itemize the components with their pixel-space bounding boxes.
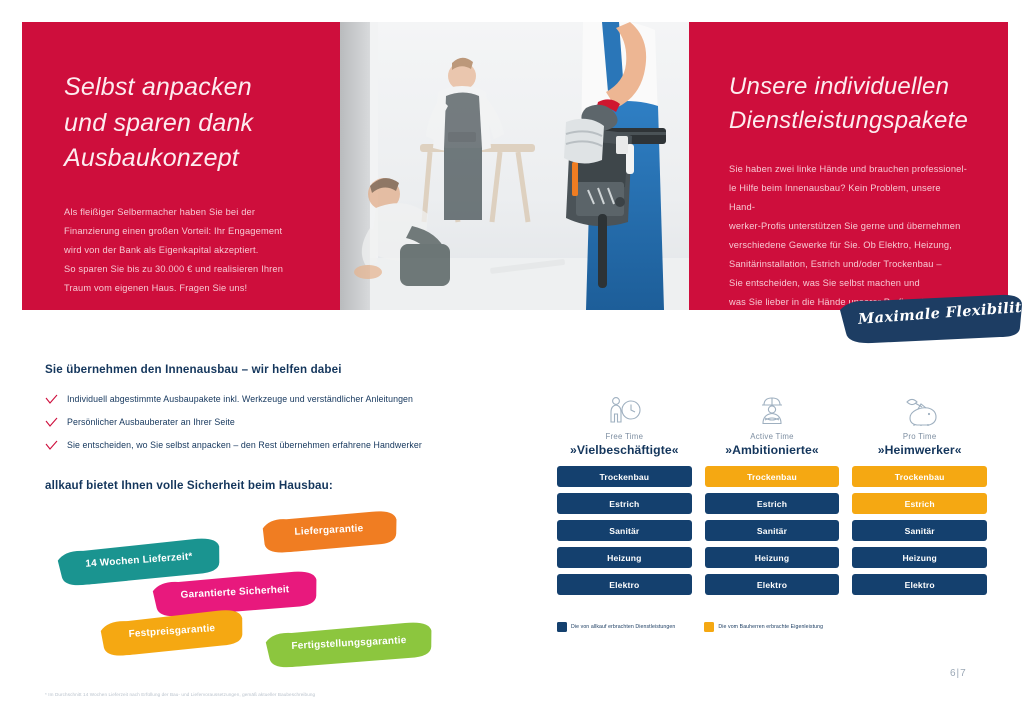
list-item: Sie entscheiden, wo Sie selbst anpacken … — [45, 439, 525, 462]
hero-left-title: Selbst anpacken und sparen dank Ausbauko… — [64, 70, 300, 177]
package-title: »Heimwerker« — [852, 443, 987, 457]
legend-item-dienstleistungen: Die von allkauf erbrachten Dienstleistun… — [557, 622, 675, 632]
hero-right-body: Sie haben zwei linke Hände und brauchen … — [729, 160, 968, 312]
package-row-estrich[interactable]: Estrich — [557, 493, 692, 514]
footnote: * Im Durchschnitt 14 Wochen Lieferzeit n… — [45, 692, 315, 697]
package-row-heizung[interactable]: Heizung — [557, 547, 692, 568]
hero-panel-left: Selbst anpacken und sparen dank Ausbauko… — [22, 22, 340, 310]
package-columns: Free Time »Vielbeschäftigte« Trockenbau … — [557, 392, 987, 595]
package-row-heizung[interactable]: Heizung — [852, 547, 987, 568]
package-rows: Trockenbau Estrich Sanitär Heizung Elekt… — [705, 466, 840, 595]
badge-label: Liefergarantie — [259, 508, 399, 553]
package-row-trockenbau[interactable]: Trockenbau — [557, 466, 692, 487]
package-row-sanitaer[interactable]: Sanitär — [557, 520, 692, 541]
legend-swatch-orange — [704, 622, 714, 632]
package-subtitle: Pro Time — [852, 432, 987, 441]
check-icon — [45, 393, 67, 405]
craftsmen-photo-illustration — [340, 22, 689, 310]
badge-label: Fertigstellungsgarantie — [262, 620, 436, 669]
package-row-elektro[interactable]: Elektro — [705, 574, 840, 595]
service-packages: Free Time »Vielbeschäftigte« Trockenbau … — [557, 392, 987, 595]
package-row-elektro[interactable]: Elektro — [852, 574, 987, 595]
hero-band: Selbst anpacken und sparen dank Ausbauko… — [22, 22, 1002, 310]
package-row-sanitaer[interactable]: Sanitär — [852, 520, 987, 541]
package-row-estrich[interactable]: Estrich — [705, 493, 840, 514]
page-number: 6|7 — [950, 668, 967, 679]
check-icon — [45, 439, 67, 451]
hero-photo — [340, 22, 689, 310]
guarantee-badges: 14 Wochen Lieferzeit* Liefergarantie Gar… — [45, 505, 445, 665]
hero-left-body: Als fleißiger Selbermacher haben Sie bei… — [64, 203, 300, 298]
package-column-ambitionierte: Active Time »Ambitionierte« Trockenbau E… — [705, 392, 840, 595]
person-clock-icon — [557, 392, 692, 430]
list-item-label: Individuell abgestimmte Ausbaupakete ink… — [67, 393, 413, 406]
check-icon — [45, 416, 67, 428]
package-title: »Ambitionierte« — [705, 443, 840, 457]
list-item-label: Persönlicher Ausbauberater an Ihrer Seit… — [67, 416, 235, 429]
hero-right-title: Unsere individuellen Dienstleistungspake… — [729, 70, 968, 138]
badge-fertigstellungsgarantie: Fertigstellungsgarantie — [262, 620, 436, 669]
list-item-label: Sie entscheiden, wo Sie selbst anpacken … — [67, 439, 422, 452]
innenausbau-check-list: Individuell abgestimmte Ausbaupakete ink… — [45, 393, 525, 462]
package-column-heimwerker: Pro Time »Heimwerker« Trockenbau Estrich… — [852, 392, 987, 595]
worker-helmet-icon — [705, 392, 840, 430]
badge-liefergarantie: Liefergarantie — [259, 508, 399, 553]
legend-item-eigenleistung: Die vom Bauherren erbrachte Eigenleistun… — [704, 622, 823, 632]
package-title: »Vielbeschäftigte« — [557, 443, 692, 457]
package-rows: Trockenbau Estrich Sanitär Heizung Elekt… — [852, 466, 987, 595]
badge-label: Festpreisgarantie — [97, 607, 247, 657]
piggy-bank-icon — [852, 392, 987, 430]
sicherheit-heading: allkauf bietet Ihnen volle Sicherheit be… — [45, 479, 333, 492]
maximale-flexibilitaet-banner: Maximale Flexibilität — [836, 292, 1024, 344]
legend-label: Die vom Bauherren erbrachte Eigenleistun… — [718, 624, 823, 630]
package-subtitle: Free Time — [557, 432, 692, 441]
package-row-elektro[interactable]: Elektro — [557, 574, 692, 595]
package-row-estrich[interactable]: Estrich — [852, 493, 987, 514]
package-row-sanitaer[interactable]: Sanitär — [705, 520, 840, 541]
package-row-trockenbau[interactable]: Trockenbau — [852, 466, 987, 487]
package-column-vielbeschaeftigte: Free Time »Vielbeschäftigte« Trockenbau … — [557, 392, 692, 595]
package-row-heizung[interactable]: Heizung — [705, 547, 840, 568]
innenausbau-heading: Sie übernehmen den Innenausbau – wir hel… — [45, 363, 342, 376]
legend-label: Die von allkauf erbrachten Dienstleistun… — [571, 624, 675, 630]
package-subtitle: Active Time — [705, 432, 840, 441]
badge-festpreisgarantie: Festpreisgarantie — [97, 607, 247, 657]
list-item: Persönlicher Ausbauberater an Ihrer Seit… — [45, 416, 525, 439]
package-row-trockenbau[interactable]: Trockenbau — [705, 466, 840, 487]
list-item: Individuell abgestimmte Ausbaupakete ink… — [45, 393, 525, 416]
legend-swatch-blue — [557, 622, 567, 632]
package-rows: Trockenbau Estrich Sanitär Heizung Elekt… — [557, 466, 692, 595]
hero-panel-right: Unsere individuellen Dienstleistungspake… — [689, 22, 1008, 310]
package-legend: Die von allkauf erbrachten Dienstleistun… — [557, 622, 823, 632]
